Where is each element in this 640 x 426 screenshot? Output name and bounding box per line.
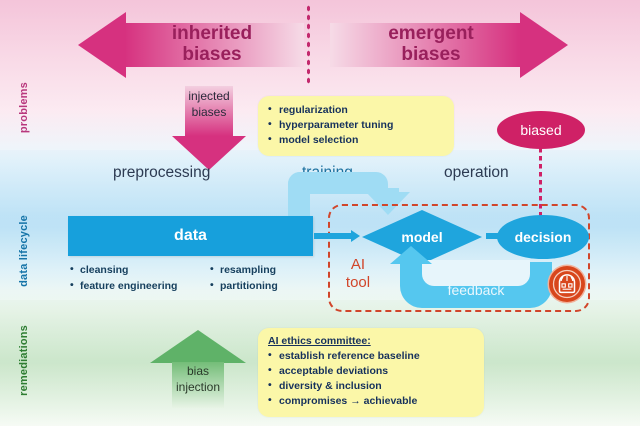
data-node: data	[68, 216, 313, 256]
arrow-line	[314, 233, 351, 239]
list-item: cleansing	[70, 262, 177, 278]
arrow-up-head-icon	[390, 246, 432, 264]
ai-tool-line2: tool	[338, 274, 378, 292]
list-item: hyperparameter tuning	[268, 118, 444, 133]
training-techniques-callout: regularization hyperparameter tuning mod…	[258, 96, 454, 156]
injected-biases-label: injected biases	[172, 88, 246, 120]
training-techniques-list: regularization hyperparameter tuning mod…	[268, 103, 444, 148]
data-bullets-left: cleansing feature engineering	[70, 262, 177, 295]
arrow-head	[351, 230, 360, 242]
list-item: acceptable deviations	[268, 364, 474, 379]
list-item: establish reference baseline	[268, 349, 474, 364]
emergent-biases-label: emergent biases	[336, 12, 526, 78]
list-item: feature engineering	[70, 278, 177, 294]
inherited-biases-line2: biases	[182, 45, 241, 66]
list-item: compromises → achievable	[268, 394, 474, 409]
list-item: diversity & inclusion	[268, 379, 474, 394]
bias-injection-line2: injection	[150, 379, 246, 395]
bias-injection-line1: bias	[150, 363, 246, 379]
injected-biases-arrow: injected biases	[172, 86, 246, 170]
arrow-up-head-icon	[150, 330, 246, 363]
stage-label-preprocessing: preprocessing	[113, 164, 210, 182]
ai-ethics-committee-callout: AI ethics committee: establish reference…	[258, 328, 484, 417]
bias-injection-label: bias injection	[150, 363, 246, 395]
arrow-vertical-segment	[288, 172, 310, 220]
feedback-loop-arrow: feedback	[400, 262, 552, 308]
injected-biases-line1: injected	[172, 88, 246, 104]
list-item: model selection	[268, 133, 444, 148]
inherited-biases-label: inherited biases	[120, 12, 304, 78]
emergent-biases-line1: emergent	[388, 24, 474, 45]
arrow-left-head-icon	[78, 12, 126, 78]
emergent-biases-line2: biases	[401, 45, 460, 66]
diagram-canvas: problems data lifecycle remediations inh…	[0, 0, 640, 426]
emergent-biases-arrow: emergent biases	[330, 12, 568, 78]
stage-label-operation: operation	[444, 164, 509, 182]
arrow-right-head-icon	[520, 12, 568, 78]
decision-node: decision	[497, 215, 589, 259]
human-brain-icon	[549, 266, 585, 302]
band-label-data-lifecycle: data lifecycle	[18, 215, 30, 287]
inherited-biases-line1: inherited	[172, 24, 252, 45]
dotted-divider	[306, 4, 311, 86]
list-item: resampling	[210, 262, 278, 278]
band-label-problems: problems	[18, 82, 30, 133]
ai-ethics-heading: AI ethics committee:	[268, 334, 474, 349]
list-item: regularization	[268, 103, 444, 118]
biased-badge: biased	[497, 111, 585, 149]
list-item: partitioning	[210, 278, 278, 294]
data-bullets-right: resampling partitioning	[210, 262, 278, 295]
band-label-remediations: remediations	[18, 325, 30, 396]
bias-injection-arrow: bias injection	[150, 330, 246, 408]
data-to-model-arrow-icon	[314, 230, 360, 242]
ai-ethics-list: establish reference baseline acceptable …	[268, 349, 474, 409]
inherited-biases-arrow: inherited biases	[78, 12, 304, 78]
injected-biases-line2: biases	[172, 104, 246, 120]
feedback-label: feedback	[400, 282, 552, 298]
